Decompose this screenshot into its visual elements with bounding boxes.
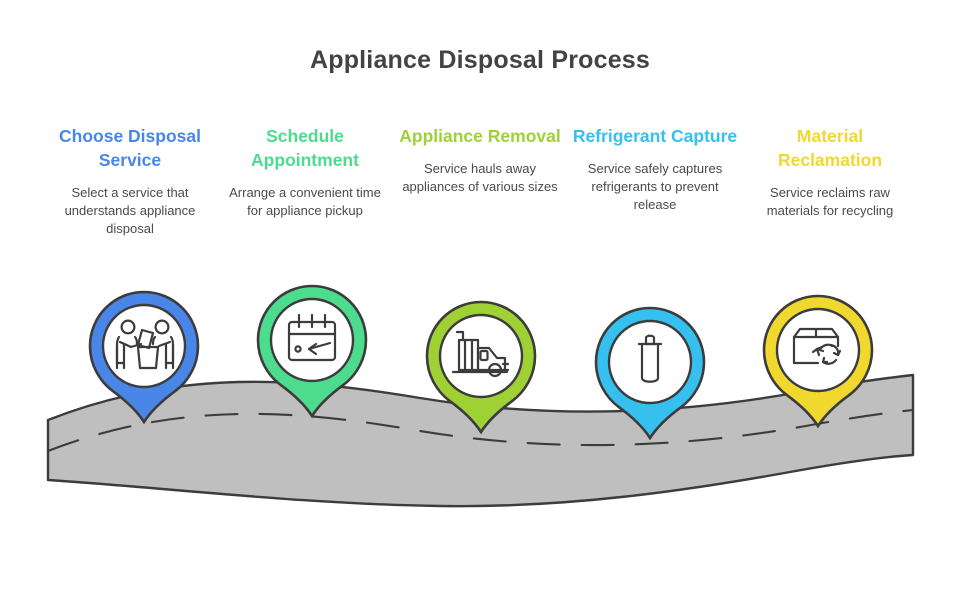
step-column-2: Schedule Appointment Arrange a convenien… — [221, 124, 389, 220]
step-description-5: Service reclaims raw materials for recyc… — [746, 184, 914, 220]
step-column-4: Refrigerant Capture Service safely captu… — [571, 124, 739, 214]
step-heading-2: Schedule Appointment — [221, 124, 389, 172]
step-heading-1: Choose Disposal Service — [46, 124, 214, 172]
step-pin-1[interactable] — [90, 292, 198, 422]
step-description-4: Service safely captures refrigerants to … — [571, 160, 739, 214]
step-pin-2[interactable] — [258, 286, 366, 416]
step-pin-5[interactable] — [764, 296, 872, 426]
step-column-1: Choose Disposal Service Select a service… — [46, 124, 214, 238]
steps-text-row: Choose Disposal Service Select a service… — [0, 124, 960, 238]
pin-inner-circle-2 — [271, 299, 353, 381]
pin-inner-circle-4 — [609, 321, 691, 403]
step-heading-3: Appliance Removal — [396, 124, 564, 148]
step-heading-4: Refrigerant Capture — [571, 124, 739, 148]
step-description-2: Arrange a convenient time for appliance … — [221, 184, 389, 220]
infographic-canvas: Appliance Disposal Process Choose Dispos… — [0, 0, 960, 600]
step-pin-4[interactable] — [596, 308, 704, 438]
step-description-1: Select a service that understands applia… — [46, 184, 214, 238]
step-heading-5: Material Reclamation — [746, 124, 914, 172]
road-scene — [0, 0, 960, 600]
page-title: Appliance Disposal Process — [0, 46, 960, 75]
step-column-5: Material Reclamation Service reclaims ra… — [746, 124, 914, 220]
step-pin-3[interactable] — [427, 302, 535, 432]
step-description-3: Service hauls away appliances of various… — [396, 160, 564, 196]
step-column-3: Appliance Removal Service hauls away app… — [396, 124, 564, 196]
